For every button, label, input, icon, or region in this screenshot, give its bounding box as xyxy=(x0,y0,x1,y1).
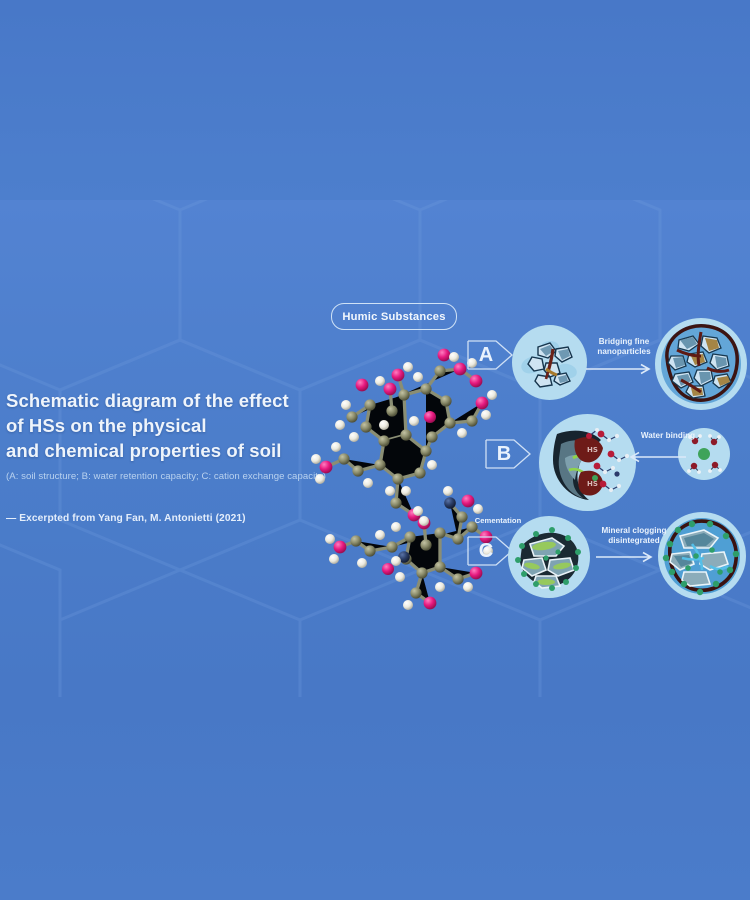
panel-marker-a: A xyxy=(466,333,518,377)
svg-text:HS: HS xyxy=(587,446,598,454)
legend-note: (A: soil structure; B: water retention c… xyxy=(6,470,336,483)
panel-c-before-circle xyxy=(508,516,590,598)
panel-marker-c-letter: C xyxy=(466,529,506,573)
panel-b-before-circle: HS HS xyxy=(539,414,636,511)
panel-a-process-line1: Bridging fine xyxy=(582,337,666,347)
panel-b-process-line1: Water binding xyxy=(630,431,706,441)
background-band-bottom xyxy=(0,697,750,900)
panel-c-process-line1: Mineral clogging xyxy=(586,526,682,536)
panel-c-left-caption: Cementation xyxy=(469,516,527,526)
page-title: Schematic diagram of the effect of HSs o… xyxy=(6,388,336,463)
humic-substances-label-text: Humic Substances xyxy=(342,311,445,323)
panel-a-arrow-right xyxy=(586,362,658,376)
panel-b-arrow-left xyxy=(630,450,686,464)
panel-c-process-line2: disintegrated xyxy=(586,536,682,546)
title-line-2: of HSs on the physical xyxy=(6,413,336,438)
panel-a-after-circle xyxy=(655,318,747,410)
panel-c-arrow-right xyxy=(596,550,658,564)
source-credit: — Excerpted from Yang Fan, M. Antonietti… xyxy=(6,513,336,524)
title-block: Schematic diagram of the effect of HSs o… xyxy=(6,388,336,524)
background-band-top xyxy=(0,0,750,200)
title-line-1: Schematic diagram of the effect xyxy=(6,388,336,413)
panel-a-before-circle xyxy=(512,325,587,400)
panel-b-process-label: Water binding xyxy=(630,431,706,441)
figure-canvas: Schematic diagram of the effect of HSs o… xyxy=(0,0,750,900)
panel-marker-b: B xyxy=(484,432,536,476)
panel-marker-b-letter: B xyxy=(484,432,524,476)
title-line-3: and chemical properties of soil xyxy=(6,438,336,463)
panel-a-process-line2: nanoparticles xyxy=(582,347,666,357)
panel-a-process-label: Bridging fine nanoparticles xyxy=(582,337,666,357)
panel-c-process-label: Mineral clogging disintegrated xyxy=(586,526,682,546)
svg-text:HS: HS xyxy=(587,480,598,488)
panel-marker-a-letter: A xyxy=(466,333,506,377)
